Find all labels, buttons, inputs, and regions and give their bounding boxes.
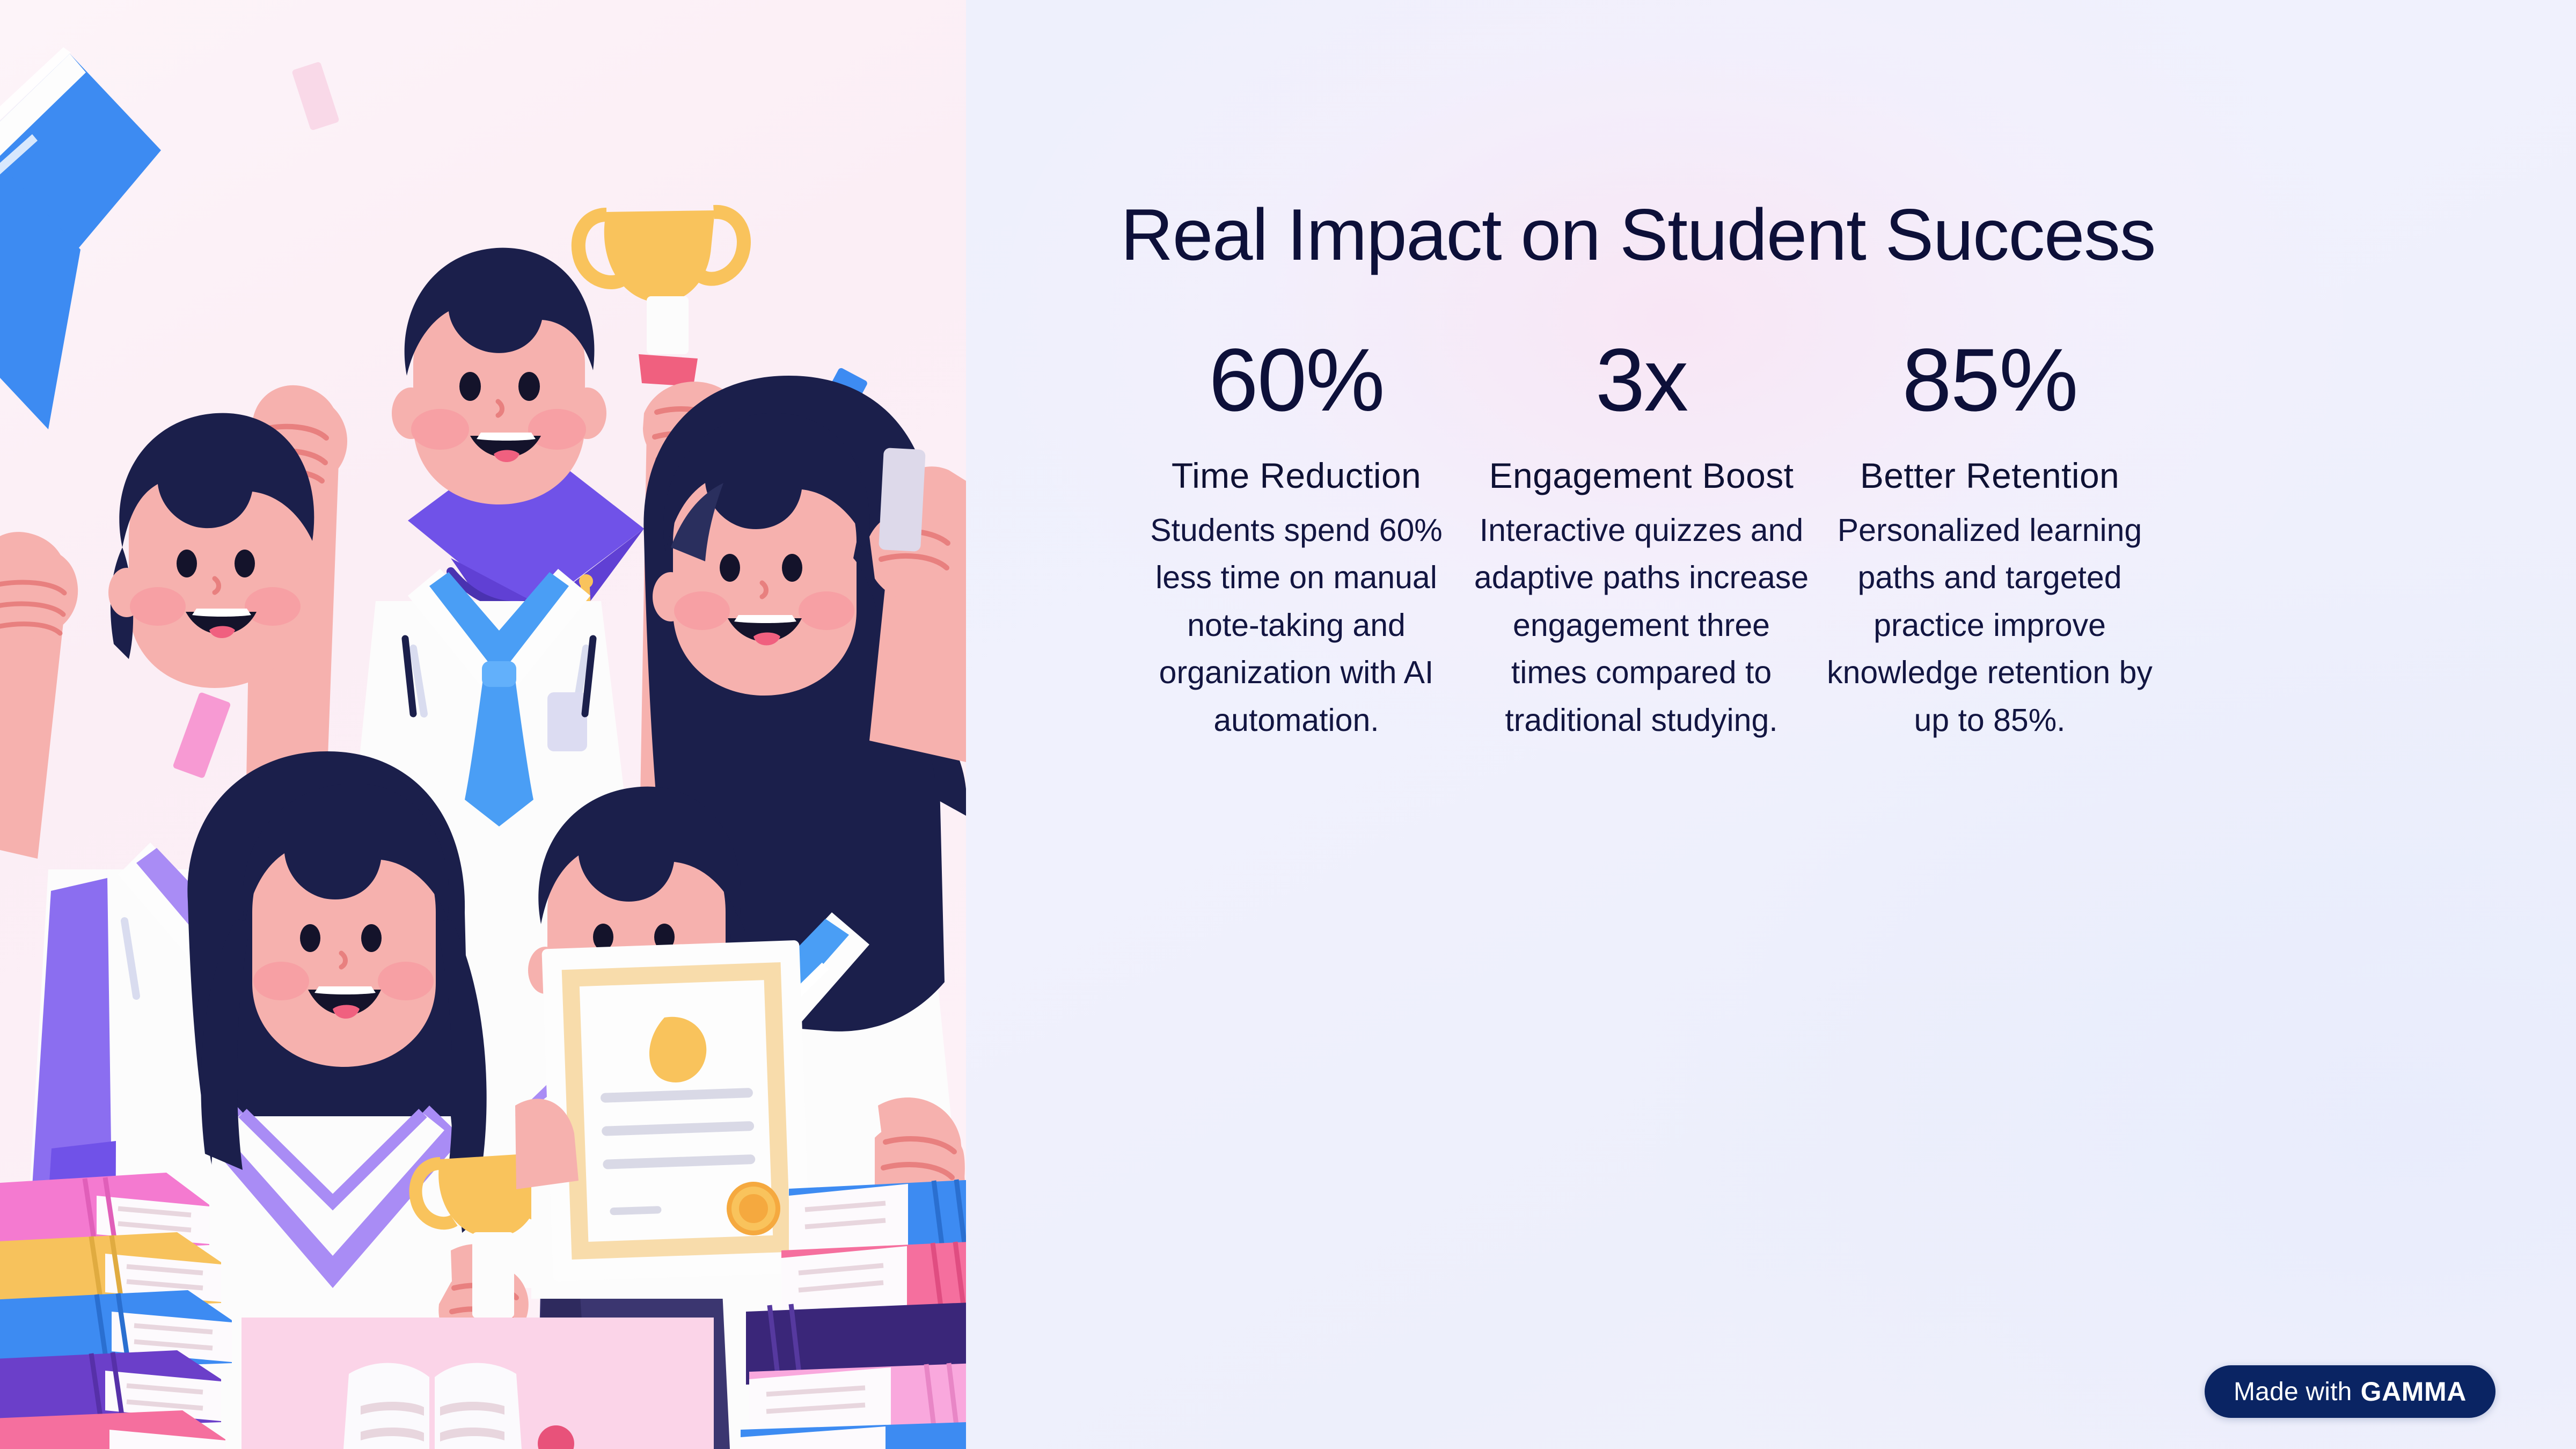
stat-card-engagement-boost: 3x Engagement Boost Interactive quizzes …	[1466, 336, 1817, 744]
stat-description: Students spend 60% less time on manual n…	[1128, 507, 1465, 744]
made-with-gamma-badge[interactable]: Made with GAMMA	[2205, 1365, 2495, 1418]
stat-value: 60%	[1128, 336, 1465, 425]
stats-row: 60% Time Reduction Students spend 60% le…	[1121, 336, 2495, 744]
stat-label: Engagement Boost	[1473, 452, 1810, 499]
pink-table	[241, 1318, 714, 1449]
illustration-panel	[0, 0, 966, 1449]
made-with-label: Made with	[2234, 1377, 2352, 1407]
stat-label: Time Reduction	[1128, 452, 1465, 499]
book-stack-left	[0, 1173, 232, 1449]
content-panel: Real Impact on Student Success 60% Time …	[966, 0, 2576, 1449]
slide: Real Impact on Student Success 60% Time …	[0, 0, 2576, 1449]
stat-label: Better Retention	[1821, 452, 2158, 499]
gamma-logo: GAMMA	[2361, 1376, 2467, 1407]
stat-description: Personalized learning paths and targeted…	[1821, 507, 2158, 744]
stat-description: Interactive quizzes and adaptive paths i…	[1473, 507, 1810, 744]
students-celebration-illustration	[0, 0, 966, 1449]
stat-card-time-reduction: 60% Time Reduction Students spend 60% le…	[1121, 336, 1472, 744]
stat-value: 3x	[1473, 336, 1810, 425]
stat-value: 85%	[1821, 336, 2158, 425]
page-title: Real Impact on Student Success	[1121, 187, 2290, 283]
stat-card-better-retention: 85% Better Retention Personalized learni…	[1814, 336, 2165, 744]
certificate	[541, 940, 810, 1282]
